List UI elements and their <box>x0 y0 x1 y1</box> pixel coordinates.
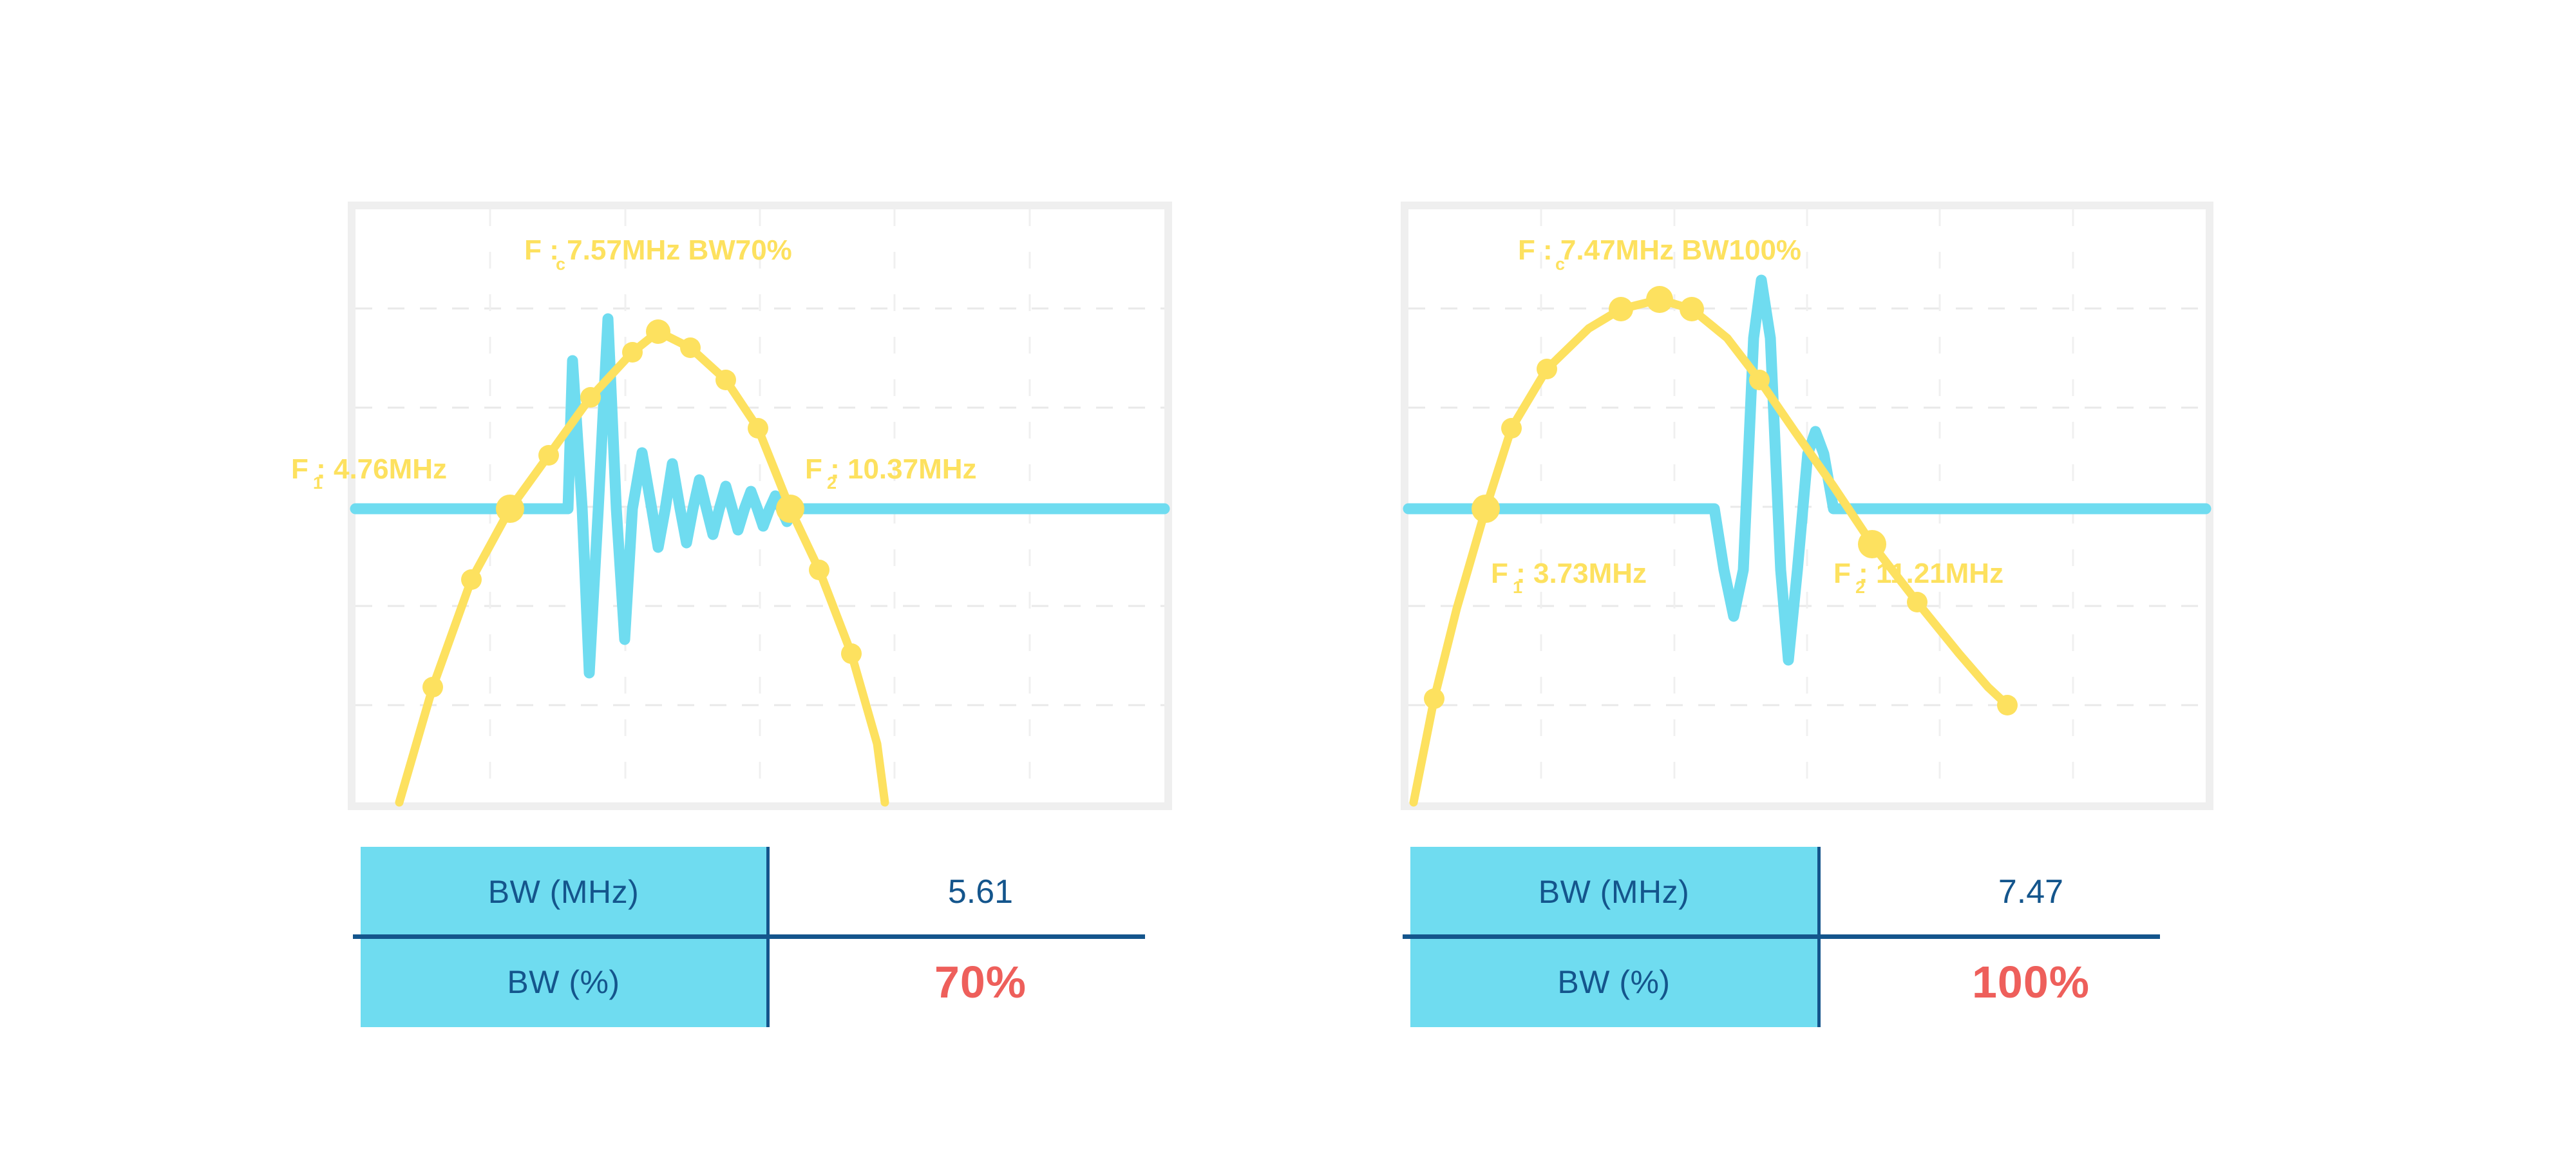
bw-mhz-value: 5.61 <box>948 873 1013 911</box>
right-f2-subscript: 2 <box>1855 578 1865 597</box>
right-plot-area: F : 7.47MHz BW100% c F : 3.73MHz 1 F : 1… <box>1408 209 2206 802</box>
left-plot-area: F : 7.57MHz BW70% c F : 4.76MHz 1 F : 10… <box>355 209 1164 802</box>
left-spectrum-yellow <box>399 319 885 802</box>
table-row: BW (MHz) 5.61 <box>361 847 1191 937</box>
left-bw-table: BW (MHz) 5.61 BW (%) 70% <box>361 847 1191 1027</box>
bw-mhz-header: BW (MHz) <box>1410 847 1817 937</box>
right-fc-subscript: c <box>1555 254 1565 274</box>
left-f2-subscript: 2 <box>827 473 837 493</box>
right-f1-subscript: 1 <box>1513 578 1522 597</box>
left-plot-svg: F : 7.57MHz BW70% c F : 4.76MHz 1 F : 10… <box>355 209 1164 802</box>
bw-mhz-value-cell: 7.47 <box>1821 847 2241 937</box>
left-fc-subscript: c <box>556 254 565 274</box>
bw-mhz-value-cell: 5.61 <box>770 847 1191 937</box>
right-bw-table: BW (MHz) 7.47 BW (%) 100% <box>1410 847 2241 1027</box>
bw-mhz-header: BW (MHz) <box>361 847 766 937</box>
figure-canvas: F : 7.57MHz BW70% c F : 4.76MHz 1 F : 10… <box>0 0 2576 1154</box>
row-separator-rule <box>1403 934 2160 939</box>
table-row: BW (%) 70% <box>361 937 1191 1027</box>
table-row: BW (%) 100% <box>1410 937 2241 1027</box>
row-separator-rule <box>353 934 1145 939</box>
left-chart-panel: F : 7.57MHz BW70% c F : 4.76MHz 1 F : 10… <box>348 202 1172 810</box>
table-row: BW (MHz) 7.47 <box>1410 847 2241 937</box>
bw-pct-header: BW (%) <box>1410 937 1817 1027</box>
left-f1-subscript: 1 <box>313 473 323 493</box>
bw-pct-header: BW (%) <box>361 937 766 1027</box>
bw-pct-value: 100% <box>1972 956 2090 1008</box>
right-spectrum-markers <box>1424 286 2018 715</box>
bw-pct-value: 70% <box>934 956 1027 1008</box>
left-waveform-cyan <box>355 319 1164 673</box>
right-plot-svg: F : 7.47MHz BW100% c F : 3.73MHz 1 F : 1… <box>1408 209 2206 802</box>
bw-pct-value-cell: 70% <box>770 937 1191 1027</box>
bw-mhz-value: 7.47 <box>1998 873 2063 911</box>
bw-pct-value-cell: 100% <box>1821 937 2241 1027</box>
right-chart-panel: F : 7.47MHz BW100% c F : 3.73MHz 1 F : 1… <box>1401 202 2213 810</box>
